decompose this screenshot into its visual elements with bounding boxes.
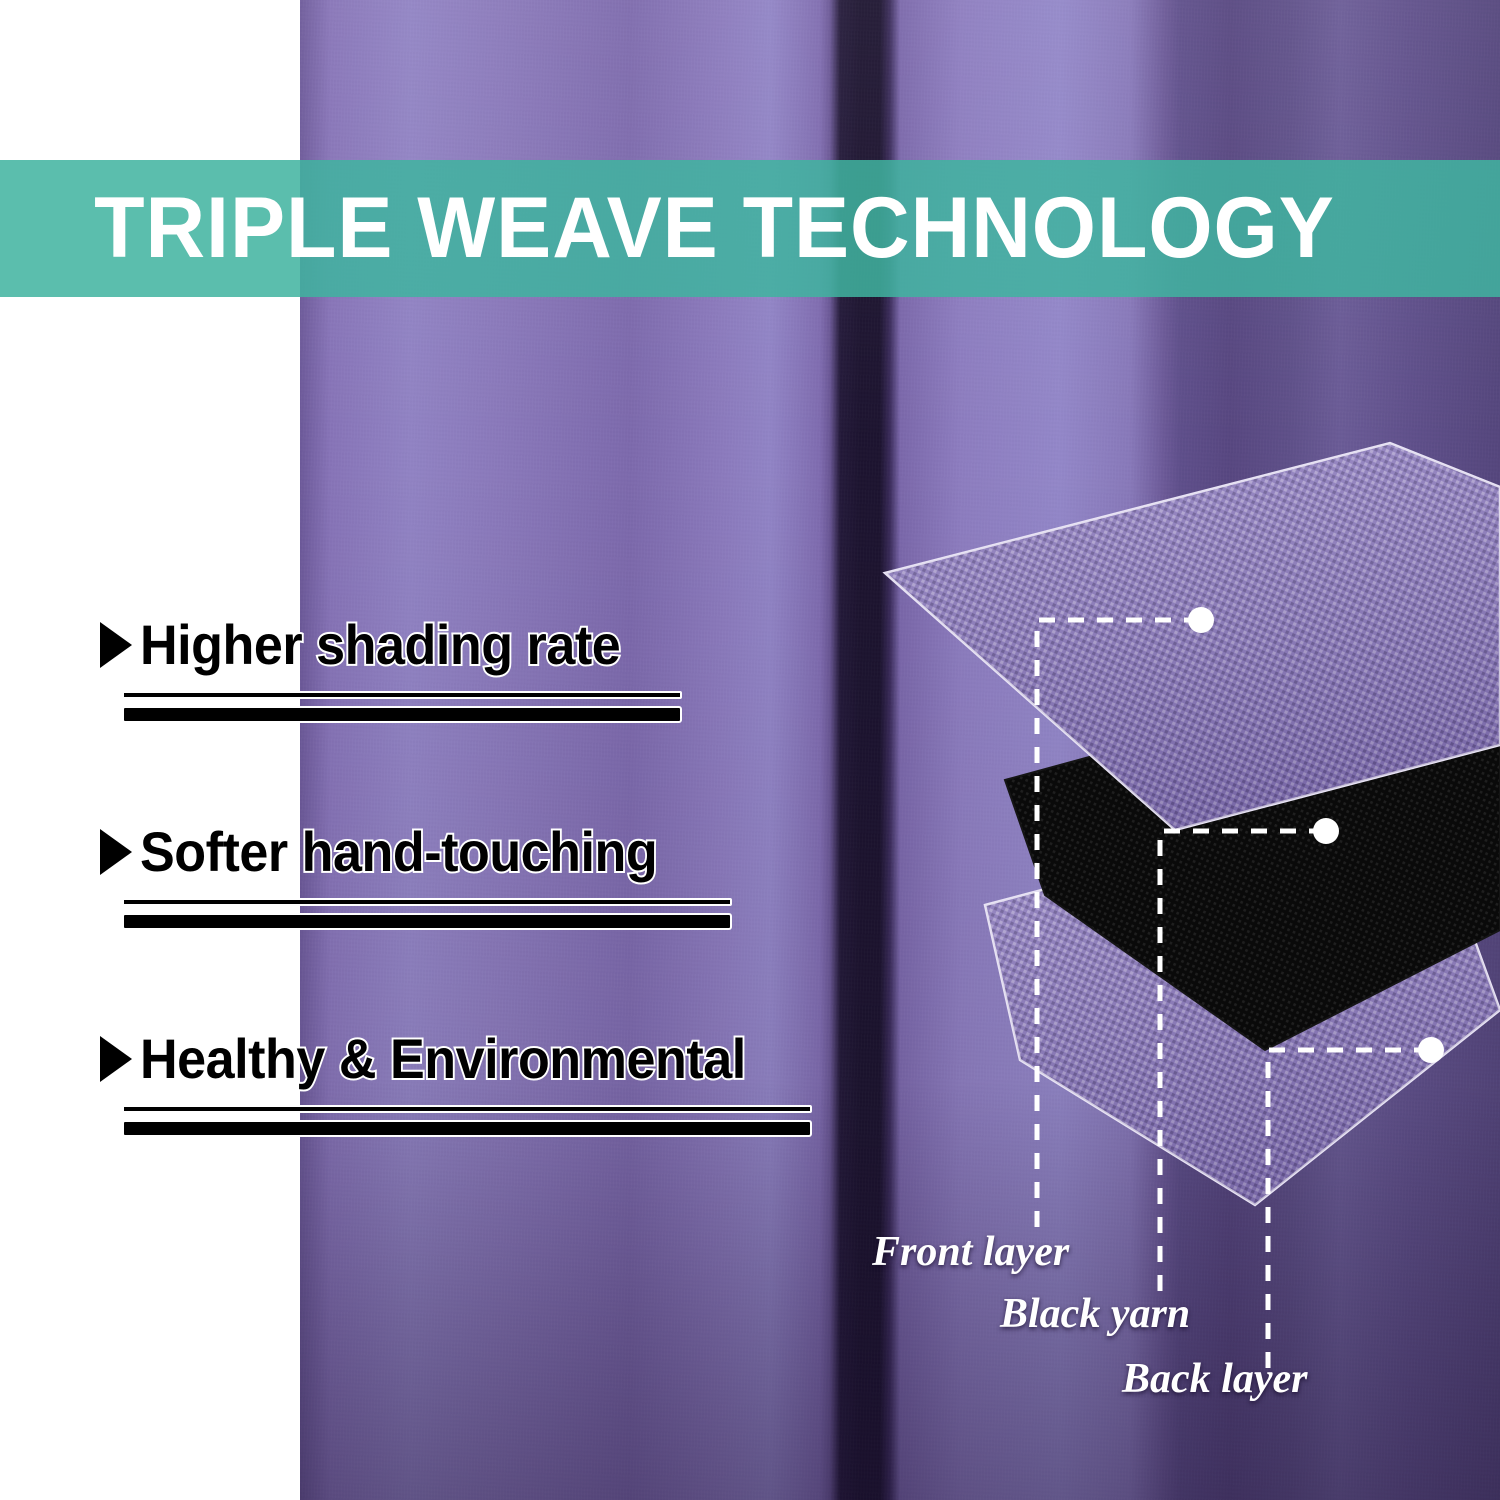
feature-underline [122,898,732,930]
product-infographic: TRIPLE WEAVE TECHNOLOGY Higher shading r… [0,0,1500,1500]
feature-item-healthy-environmental: Healthy & Environmental [100,1026,860,1137]
front-layer-label: Front layer [872,1228,1069,1276]
headline-title: TRIPLE WEAVE TECHNOLOGY [0,160,1440,297]
underline-thin-rule [122,898,732,906]
black-yarn-label: Black yarn [1000,1290,1190,1338]
triangle-right-icon [100,622,132,668]
feature-item-higher-shading-rate: Higher shading rate [100,612,860,723]
underline-thick-rule [122,913,732,930]
triangle-right-icon [100,829,132,875]
underline-thick-rule [122,706,682,723]
feature-list: Higher shading rate Softer hand-touching… [100,612,860,1233]
back-layer-label: Back layer [1122,1355,1307,1403]
feature-underline [122,691,682,723]
feature-item-softer-hand-touching: Softer hand-touching [100,819,860,930]
feature-label: Healthy & Environmental [140,1026,746,1091]
underline-thick-rule [122,1120,812,1137]
feature-label: Higher shading rate [140,612,620,677]
feature-underline [122,1105,812,1137]
feature-label: Softer hand-touching [140,819,657,884]
underline-thin-rule [122,691,682,699]
underline-thin-rule [122,1105,812,1113]
triangle-right-icon [100,1036,132,1082]
